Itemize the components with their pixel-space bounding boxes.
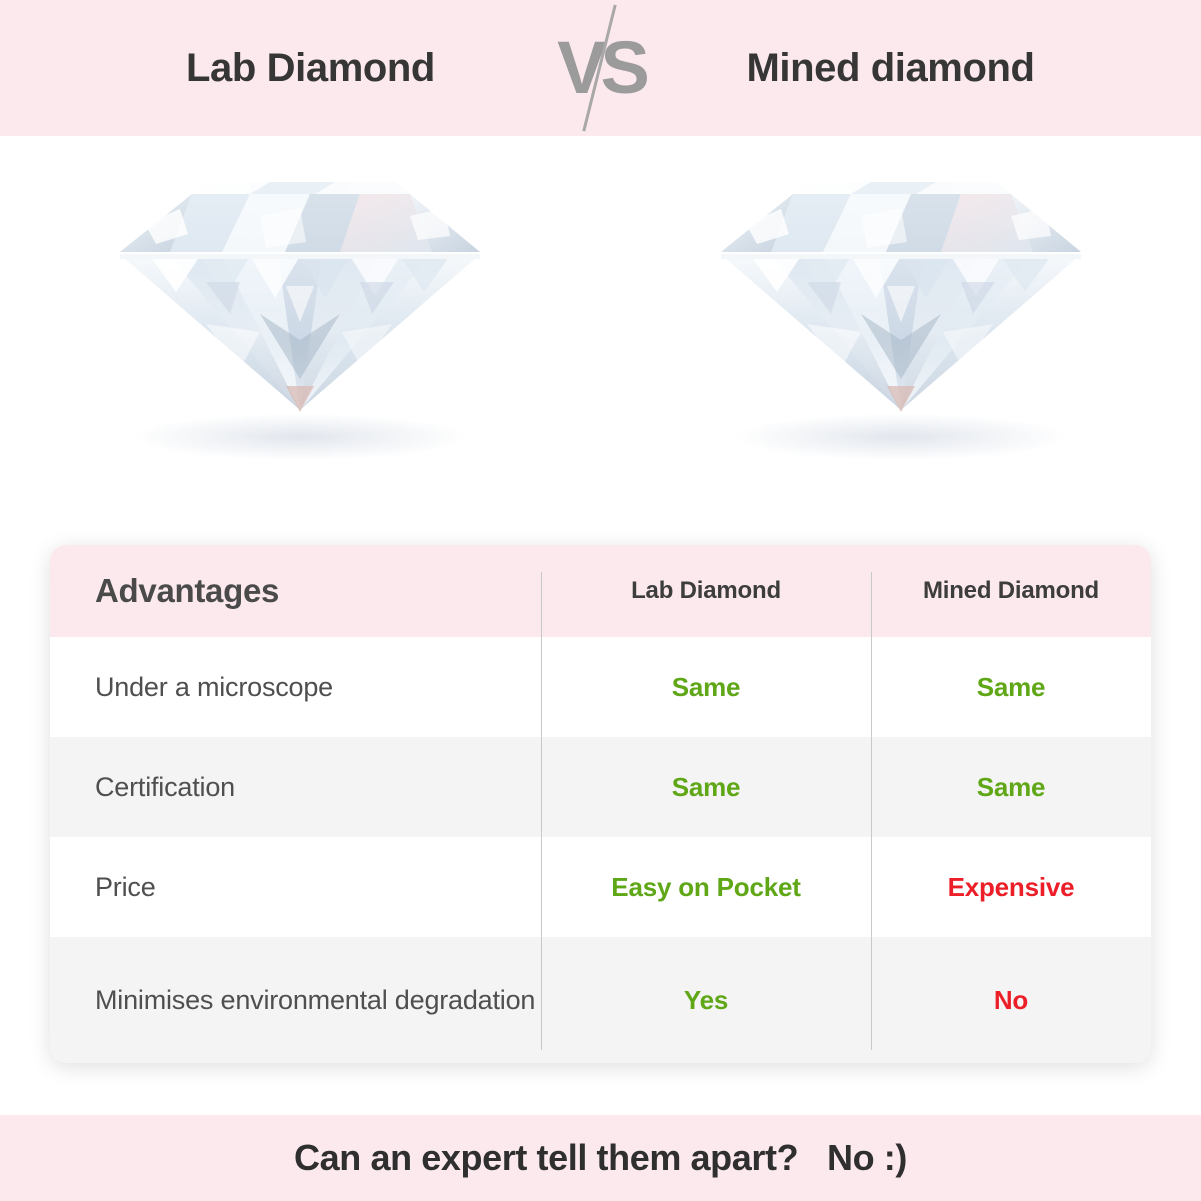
table-row: Certification Same Same	[50, 737, 1151, 837]
row-lab-value: Same	[541, 737, 871, 837]
row-lab-value: Easy on Pocket	[541, 837, 871, 937]
gem-cell-lab	[0, 136, 601, 531]
table-row: Price Easy on Pocket Expensive	[50, 837, 1151, 937]
mined-diamond-image	[711, 164, 1091, 424]
lab-diamond-glow	[135, 414, 465, 460]
footer-question: Can an expert tell them apart? No :)	[294, 1137, 907, 1179]
row-feature-label: Minimises environmental degradation	[50, 937, 541, 1063]
footer-band: Can an expert tell them apart? No :)	[0, 1115, 1201, 1201]
row-mined-value: Same	[871, 637, 1151, 737]
header-title-lab: Lab Diamond	[76, 46, 546, 91]
header-title-mined: Mined diamond	[656, 46, 1126, 91]
diamond-image-row	[0, 136, 1201, 531]
lab-diamond-image	[110, 164, 490, 424]
table-row: Under a microscope Same Same	[50, 637, 1151, 737]
vs-badge: VS	[546, 13, 656, 123]
row-mined-value: No	[871, 937, 1151, 1063]
mined-diamond-glow	[736, 414, 1066, 460]
table-row: Minimises environmental degradation Yes …	[50, 937, 1151, 1063]
row-mined-value: Same	[871, 737, 1151, 837]
row-lab-value: Same	[541, 637, 871, 737]
column-header-mined-diamond: Mined Diamond	[871, 577, 1151, 605]
column-header-advantages: Advantages	[50, 572, 541, 610]
row-feature-label: Under a microscope	[50, 637, 541, 737]
header-band: Lab Diamond VS Mined diamond	[0, 0, 1201, 136]
column-divider-1	[541, 572, 542, 1050]
gem-cell-mined	[601, 136, 1201, 531]
header-inner: Lab Diamond VS Mined diamond	[0, 13, 1201, 123]
row-feature-label: Certification	[50, 737, 541, 837]
comparison-table-card: Advantages Lab Diamond Mined Diamond Und…	[50, 545, 1151, 1063]
column-header-lab-diamond: Lab Diamond	[541, 577, 871, 605]
table-header-row: Advantages Lab Diamond Mined Diamond	[50, 545, 1151, 637]
row-lab-value: Yes	[541, 937, 871, 1063]
column-divider-2	[871, 572, 872, 1050]
row-mined-value: Expensive	[871, 837, 1151, 937]
row-feature-label: Price	[50, 837, 541, 937]
